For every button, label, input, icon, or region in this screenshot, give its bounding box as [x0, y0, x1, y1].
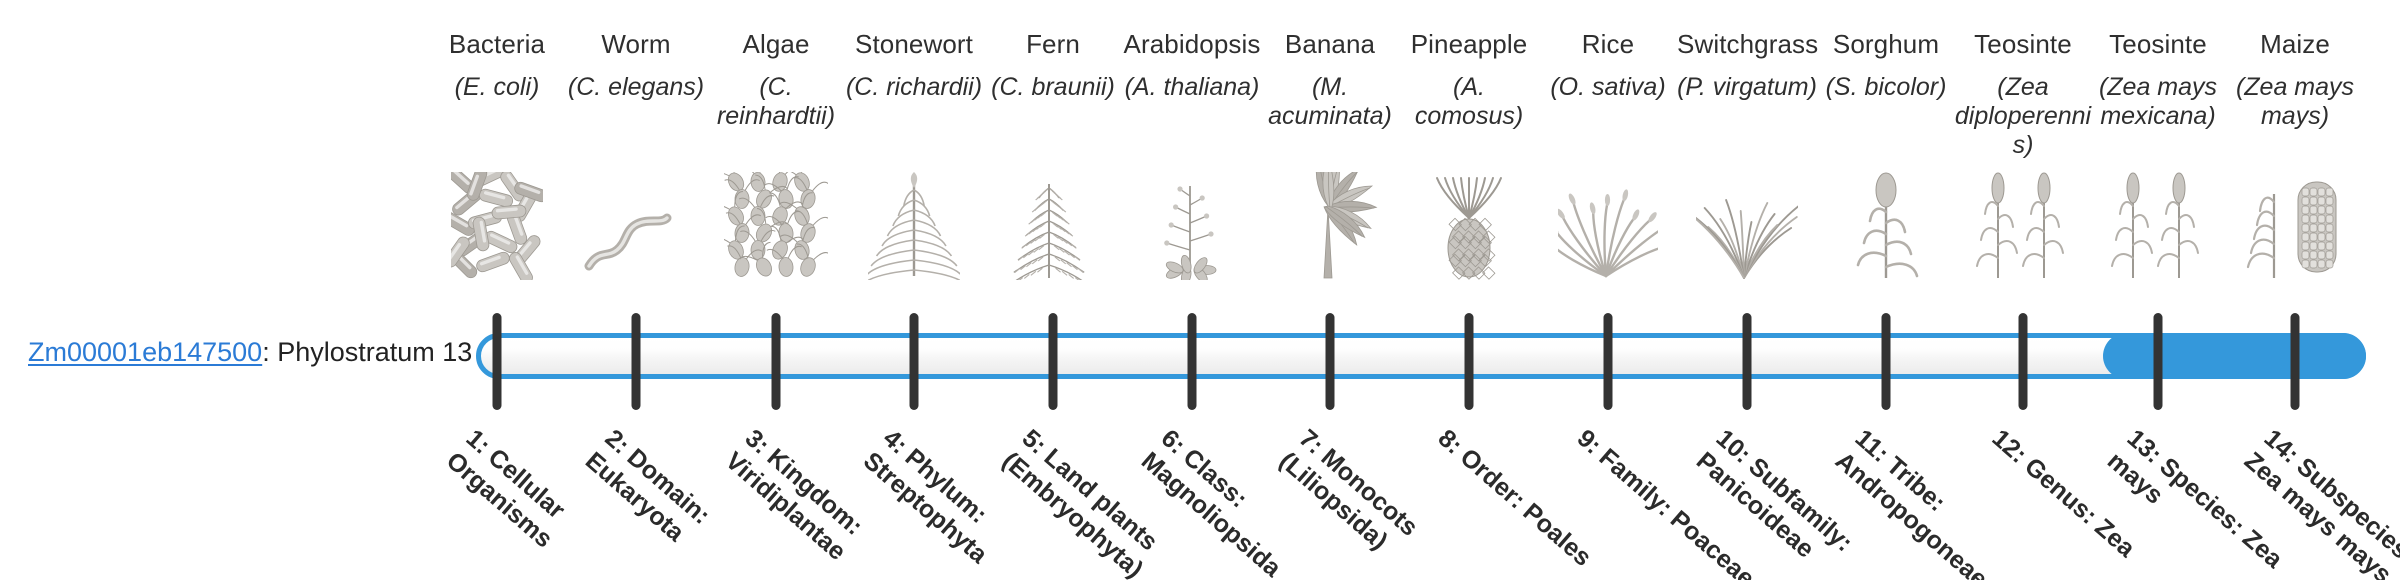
banana-icon: [1269, 172, 1391, 280]
species-column: Stonewort(C. richardii): [844, 30, 984, 102]
phylostratum-timeline: Bacteria(E. coli): [0, 0, 2400, 580]
teosinte-diplo-icon: [1962, 172, 2084, 280]
sorghum-icon: [1825, 172, 1947, 280]
stonewort-icon: [853, 172, 975, 280]
teosinte-mex-icon: [2097, 172, 2219, 280]
species-common-name: Switchgrass: [1677, 30, 1817, 59]
species-column: Teosinte(Zea diploperennis): [1953, 30, 2093, 160]
species-column: Fern(C. braunii): [983, 30, 1123, 102]
species-common-name: Banana: [1260, 30, 1400, 59]
species-scientific-name: (M. acuminata): [1260, 73, 1400, 131]
phylostratum-tick[interactable]: [2019, 313, 2028, 410]
phylostratum-text: Order: Poales: [1455, 443, 1597, 572]
phylostratum-tick[interactable]: [772, 313, 781, 410]
maize-icon: [2234, 172, 2356, 280]
species-column: Sorghum(S. bicolor): [1816, 30, 1956, 102]
phylostratum-tick[interactable]: [493, 313, 502, 410]
species-common-name: Worm: [566, 30, 706, 59]
phylostratum-tick[interactable]: [2154, 313, 2163, 410]
progress-fill: [2103, 333, 2366, 379]
species-common-name: Bacteria: [427, 30, 567, 59]
species-scientific-name: (Zea mays mays): [2225, 73, 2365, 131]
species-common-name: Arabidopsis: [1122, 30, 1262, 59]
species-header-row: Bacteria(E. coli): [0, 0, 2400, 310]
phylostratum-text: Cellular Organisms: [441, 443, 570, 553]
species-scientific-name: (S. bicolor): [1816, 73, 1956, 102]
phylostratum-progress-bar[interactable]: [476, 333, 2366, 379]
switchgrass-icon: [1686, 172, 1808, 280]
species-common-name: Maize: [2225, 30, 2365, 59]
species-column: Teosinte(Zea mays mexicana): [2088, 30, 2228, 131]
phylostratum-tick[interactable]: [1049, 313, 1058, 410]
species-column: Bacteria(E. coli): [427, 30, 567, 102]
gene-label: Zm00001eb147500: Phylostratum 13: [28, 337, 472, 368]
species-column: Maize(Zea mays mays): [2225, 30, 2365, 131]
phylostratum-tick[interactable]: [1465, 313, 1474, 410]
rice-icon: [1547, 172, 1669, 280]
species-common-name: Teosinte: [1953, 30, 2093, 59]
phylostratum-number: 12:: [1987, 424, 2033, 469]
progress-track: [476, 333, 2366, 379]
species-column: Arabidopsis(A. thaliana): [1122, 30, 1262, 102]
species-common-name: Rice: [1538, 30, 1678, 59]
species-column: Rice(O. sativa): [1538, 30, 1678, 102]
bacteria-icon: [436, 172, 558, 280]
species-column: Pineapple(A. comosus): [1399, 30, 1539, 131]
phylostratum-tick[interactable]: [1188, 313, 1197, 410]
species-scientific-name: (C. braunii): [983, 73, 1123, 102]
species-scientific-name: (A. thaliana): [1122, 73, 1262, 102]
species-common-name: Sorghum: [1816, 30, 1956, 59]
species-scientific-name: (E. coli): [427, 73, 567, 102]
worm-icon: [575, 172, 697, 280]
phylostratum-tick[interactable]: [632, 313, 641, 410]
species-scientific-name: (P. virgatum): [1677, 73, 1817, 102]
pineapple-icon: [1408, 172, 1530, 280]
species-scientific-name: (Zea diploperennis): [1953, 73, 2093, 160]
gene-label-suffix: : Phylostratum 13: [262, 337, 472, 367]
arabidopsis-icon: [1131, 172, 1253, 280]
species-common-name: Teosinte: [2088, 30, 2228, 59]
phylostratum-tick[interactable]: [1743, 313, 1752, 410]
species-common-name: Stonewort: [844, 30, 984, 59]
phylostratum-tick[interactable]: [2291, 313, 2300, 410]
species-scientific-name: (O. sativa): [1538, 73, 1678, 102]
phylostratum-tick[interactable]: [1326, 313, 1335, 410]
species-common-name: Algae: [706, 30, 846, 59]
species-common-name: Fern: [983, 30, 1123, 59]
species-scientific-name: (C. elegans): [566, 73, 706, 102]
species-column: Worm(C. elegans): [566, 30, 706, 102]
fern-icon: [992, 172, 1114, 280]
species-column: Switchgrass(P. virgatum): [1677, 30, 1817, 102]
species-common-name: Pineapple: [1399, 30, 1539, 59]
species-scientific-name: (A. comosus): [1399, 73, 1539, 131]
species-column: Algae(C. reinhardtii): [706, 30, 846, 131]
species-column: Banana(M. acuminata): [1260, 30, 1400, 131]
phylostratum-tick[interactable]: [910, 313, 919, 410]
algae-icon: [715, 172, 837, 280]
gene-id-link[interactable]: Zm00001eb147500: [28, 337, 262, 367]
species-scientific-name: (Zea mays mexicana): [2088, 73, 2228, 131]
species-scientific-name: (C. reinhardtii): [706, 73, 846, 131]
phylostratum-tick[interactable]: [1882, 313, 1891, 410]
phylostratum-tick[interactable]: [1604, 313, 1613, 410]
species-scientific-name: (C. richardii): [844, 73, 984, 102]
